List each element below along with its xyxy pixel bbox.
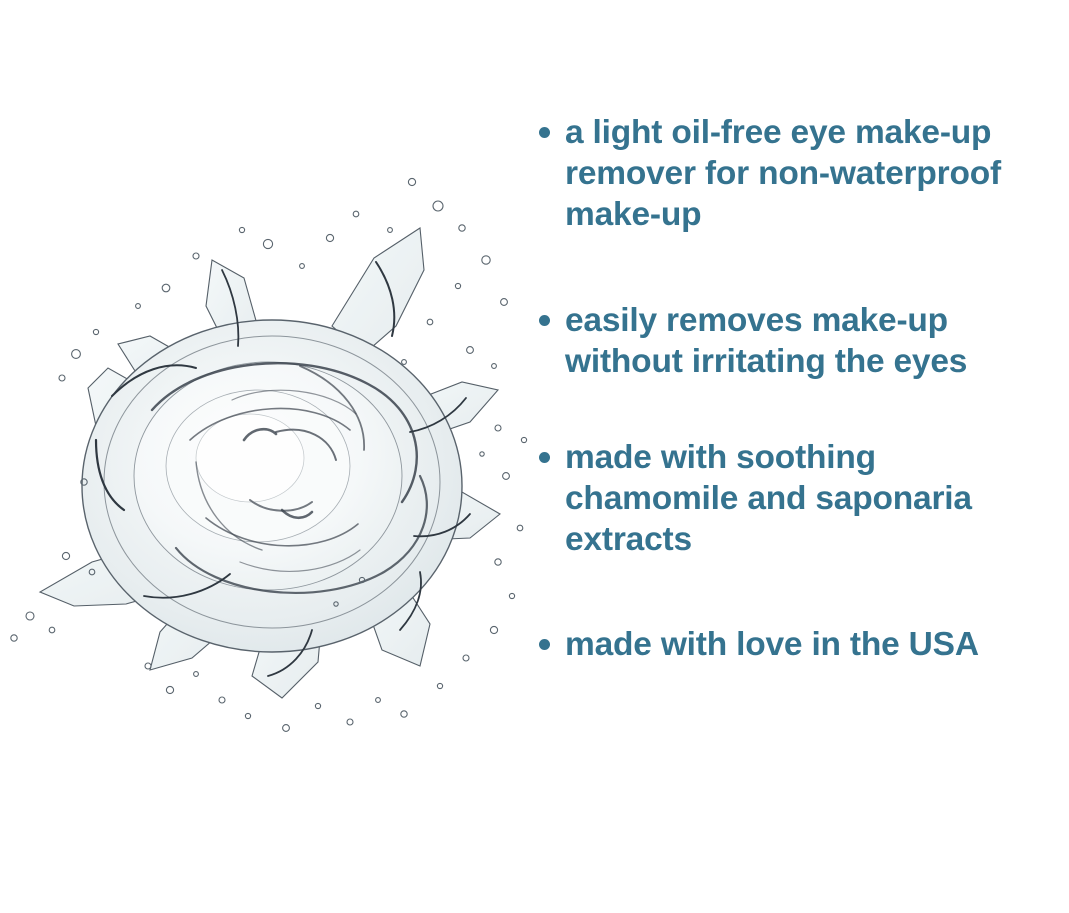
splash-bowl: [82, 320, 462, 652]
list-item: made with soothing chamomile and saponar…: [530, 437, 1055, 560]
bullet-dot-icon: [539, 127, 550, 138]
bullet-dot-icon: [539, 452, 550, 463]
bullet-dot-icon: [539, 639, 550, 650]
water-splash-image: [0, 110, 540, 790]
product-benefits-list: a light oil-free eye make-up remover for…: [530, 112, 1055, 665]
benefit-text: easily removes make-up without irritatin…: [565, 300, 1055, 382]
product-feature-panel: a light oil-free eye make-up remover for…: [0, 0, 1069, 913]
list-item: easily removes make-up without irritatin…: [530, 300, 1055, 382]
list-item: made with love in the USA: [530, 624, 1055, 665]
benefit-text: made with soothing chamomile and saponar…: [565, 437, 1055, 560]
benefit-text: a light oil-free eye make-up remover for…: [565, 112, 1055, 235]
bullet-dot-icon: [539, 315, 550, 326]
benefit-text: made with love in the USA: [565, 624, 1055, 665]
list-item: a light oil-free eye make-up remover for…: [530, 112, 1055, 235]
